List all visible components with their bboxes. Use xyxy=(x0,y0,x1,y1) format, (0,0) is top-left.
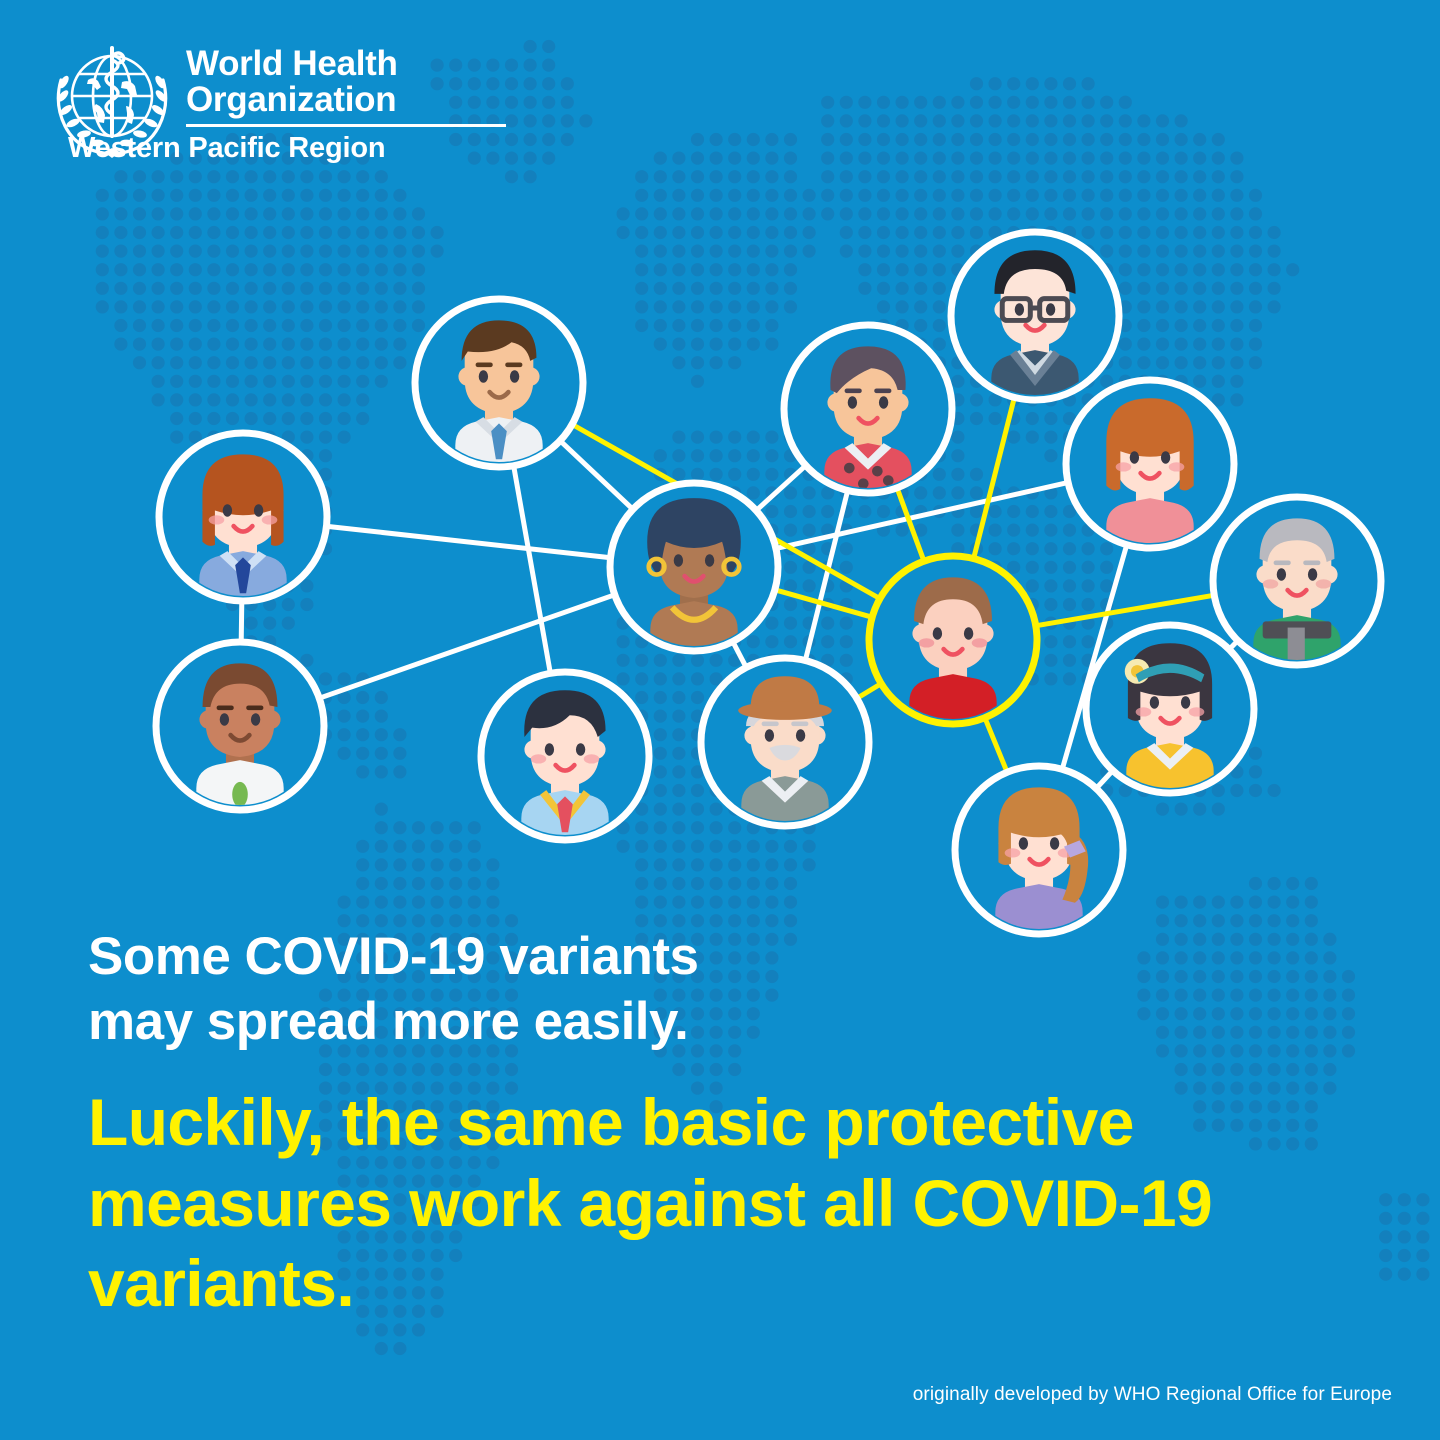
avatar-boy-school-uniform xyxy=(521,690,608,840)
network-node-woman-curly-earrings[interactable]: Woman with curly hair and gold earrings xyxy=(610,483,778,651)
network-node-girl-ponytail-purple[interactable]: Girl with ponytail in purple shirt xyxy=(955,766,1123,934)
network-node-elder-hat-moustache[interactable]: Elderly man with hat and moustache xyxy=(701,658,869,826)
avatar-person-polka-sweater xyxy=(824,346,911,493)
headline-white: Some COVID-19 variants may spread more e… xyxy=(88,925,699,1054)
network-link-contact xyxy=(734,643,746,665)
network-node-woman-flower-yellow-top[interactable]: Woman with flower hairpin and yellow top xyxy=(1086,625,1254,793)
avatar-man-shirt-tie xyxy=(455,320,542,467)
contact-network-graph: Woman with auburn bob and blue blouseMan… xyxy=(0,0,1440,1000)
headline-white-line-2: may spread more easily. xyxy=(88,990,699,1055)
network-nodes: Woman with auburn bob and blue blouseMan… xyxy=(156,232,1381,934)
who-covid-variants-poster: World Health Organization Western Pacifi… xyxy=(0,0,1440,1440)
credit-line: originally developed by WHO Regional Off… xyxy=(913,1384,1392,1406)
network-node-person-polka-sweater[interactable]: Person in red polka-dot sweater xyxy=(784,325,952,493)
network-link-contact xyxy=(328,526,608,557)
network-node-woman-bob-blue-blouse[interactable]: Woman with auburn bob and blue blouse xyxy=(159,433,327,601)
avatar-person-red-shirt xyxy=(909,577,996,724)
network-node-person-red-shirt[interactable]: Person in red shirt (highlighted case) xyxy=(869,556,1037,724)
headline-yellow: Luckily, the same basic protective measu… xyxy=(88,1082,1318,1324)
network-link-contact xyxy=(758,467,805,509)
avatar-elder-grey-scarf-green xyxy=(1253,518,1340,665)
network-link-contact xyxy=(241,603,242,640)
headline-white-line-1: Some COVID-19 variants xyxy=(88,925,699,990)
avatar-woman-curly-earrings xyxy=(647,498,741,651)
network-link-transmission xyxy=(986,720,1007,771)
network-node-man-shirt-tie[interactable]: Man in white shirt with blue tie xyxy=(415,299,583,467)
network-node-elder-grey-scarf-green[interactable]: Elderly man with grey scarf and green ja… xyxy=(1213,497,1381,665)
avatar-woman-flower-yellow-top xyxy=(1125,643,1214,793)
avatar-woman-bob-blue-blouse xyxy=(199,454,286,601)
network-node-man-glasses-scarf[interactable]: Man with glasses and navy jacket xyxy=(951,232,1119,400)
network-node-man-green-leaf-tshirt[interactable]: Man in white t-shirt with green leaf xyxy=(156,642,324,810)
network-link-contact xyxy=(514,468,550,672)
avatar-girl-ponytail-purple xyxy=(995,787,1088,934)
network-node-woman-ginger-pink-top[interactable]: Woman with long ginger hair in pink top xyxy=(1066,380,1234,548)
network-link-transmission xyxy=(974,399,1014,556)
network-link-transmission xyxy=(859,685,880,698)
avatar-man-glasses-scarf xyxy=(991,250,1078,400)
network-node-boy-school-uniform[interactable]: Schoolboy in blue sweater with red tie xyxy=(481,672,649,840)
avatar-man-green-leaf-tshirt xyxy=(196,663,283,810)
network-link-contact xyxy=(1098,772,1112,787)
network-link-transmission xyxy=(898,490,924,560)
network-link-transmission xyxy=(1038,596,1212,626)
network-link-contact xyxy=(778,483,1066,548)
avatar-woman-ginger-pink-top xyxy=(1106,398,1193,548)
